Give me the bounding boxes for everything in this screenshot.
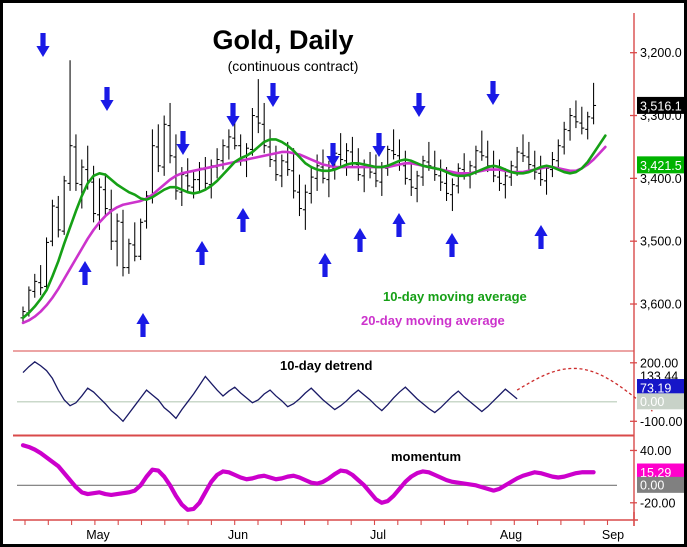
price-axis-tick: 3,600.0	[640, 298, 682, 312]
time-axis-month-label: May	[86, 528, 110, 542]
detrend-line	[23, 362, 517, 421]
price-axis-tick: 3,500.0	[640, 235, 682, 249]
down-arrow-marker	[176, 131, 189, 155]
momentum-axis-tick: -20.00	[640, 496, 675, 510]
price-axis-tick: 3,400.0	[640, 172, 682, 186]
down-arrow-marker	[266, 83, 279, 107]
price-axis-tick: 3,200.0	[640, 46, 682, 60]
momentum-line	[23, 445, 594, 510]
up-arrow-marker	[236, 208, 249, 232]
up-arrow-marker	[392, 213, 405, 237]
ma10-line	[23, 136, 605, 318]
down-arrow-marker	[100, 87, 113, 111]
up-arrow-marker	[195, 241, 208, 265]
down-arrow-marker	[226, 103, 239, 127]
up-arrow-marker	[353, 228, 366, 252]
up-arrow-marker	[136, 313, 149, 337]
ma-price-badge: 3,421.5	[637, 156, 687, 173]
up-arrow-marker	[445, 233, 458, 257]
svg-text:0.00: 0.00	[640, 478, 664, 492]
down-arrow-marker	[412, 93, 425, 117]
plot-stack: 3,200.03,300.03,400.03,500.03,600.03,516…	[3, 3, 687, 547]
detrend-zero-badge: 0.00	[637, 393, 687, 409]
detrend-axis-tick: -100.00	[640, 415, 682, 429]
svg-text:3,421.5: 3,421.5	[640, 159, 682, 173]
svg-text:3,516.1: 3,516.1	[640, 99, 682, 113]
down-arrow-marker	[486, 81, 499, 105]
chart-window: Gold, Daily (continuous contract) 10-day…	[0, 0, 687, 547]
time-axis-month-label: Sep	[602, 528, 624, 542]
up-arrow-marker	[318, 253, 331, 277]
chart-canvas: 3,200.03,300.03,400.03,500.03,600.03,516…	[3, 3, 687, 547]
svg-text:0.00: 0.00	[640, 395, 664, 409]
momentum-axis-tick: 40.00	[640, 444, 671, 458]
down-arrow-marker	[372, 133, 385, 157]
detrend-forecast-line	[517, 368, 652, 411]
time-axis-month-label: Jul	[370, 528, 386, 542]
down-arrow-marker	[36, 33, 49, 57]
last-price-badge: 3,516.1	[637, 97, 687, 114]
up-arrow-marker	[78, 261, 91, 285]
time-axis-month-label: Aug	[500, 528, 522, 542]
detrend-axis-tick: 200.00	[640, 356, 678, 370]
momentum-zero-badge: 0.00	[637, 477, 687, 493]
up-arrow-marker	[534, 225, 547, 249]
time-axis-month-label: Jun	[228, 528, 248, 542]
